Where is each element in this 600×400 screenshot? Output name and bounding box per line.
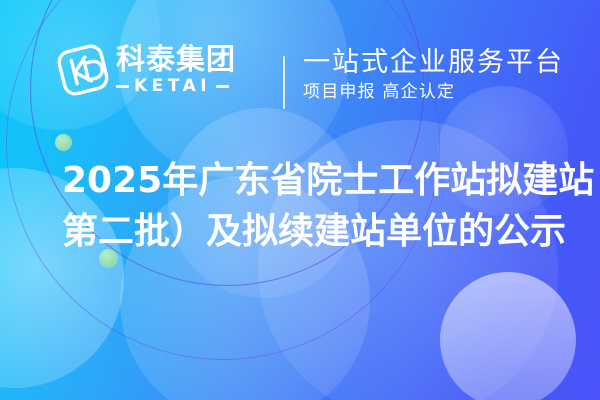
brand-lockup: 科泰集团 KETAI (54, 41, 236, 99)
banner-title-line-1: 2025年广东省院士工作站拟建站（ (62, 155, 562, 206)
brand-name-en-row: KETAI (116, 78, 236, 95)
promo-banner: 科泰集团 KETAI 一站式企业服务平台 项目申报 高企认定 2025年广东省院… (0, 0, 600, 400)
tagline-block: 一站式企业服务平台 项目申报 高企认定 (303, 47, 564, 103)
banner-title-line-2: 第二批）及拟续建站单位的公示 (62, 206, 562, 257)
brand-name-en: KETAI (134, 78, 211, 95)
ketai-diamond-monogram-icon (54, 41, 112, 99)
brand-dash-right-icon (216, 85, 229, 88)
header-divider (283, 56, 285, 109)
banner-title: 2025年广东省院士工作站拟建站（ 第二批）及拟续建站单位的公示 (62, 155, 562, 257)
tagline-secondary: 项目申报 高企认定 (303, 82, 564, 103)
banner-header: 科泰集团 KETAI 一站式企业服务平台 项目申报 高企认定 (0, 0, 600, 140)
decorative-circle-bottom-right (440, 272, 576, 400)
tagline-primary: 一站式企业服务平台 (303, 47, 564, 79)
brand-name-cn: 科泰集团 (116, 45, 236, 75)
brand-wordmark: 科泰集团 KETAI (116, 45, 236, 95)
brand-dash-left-icon (116, 85, 129, 88)
